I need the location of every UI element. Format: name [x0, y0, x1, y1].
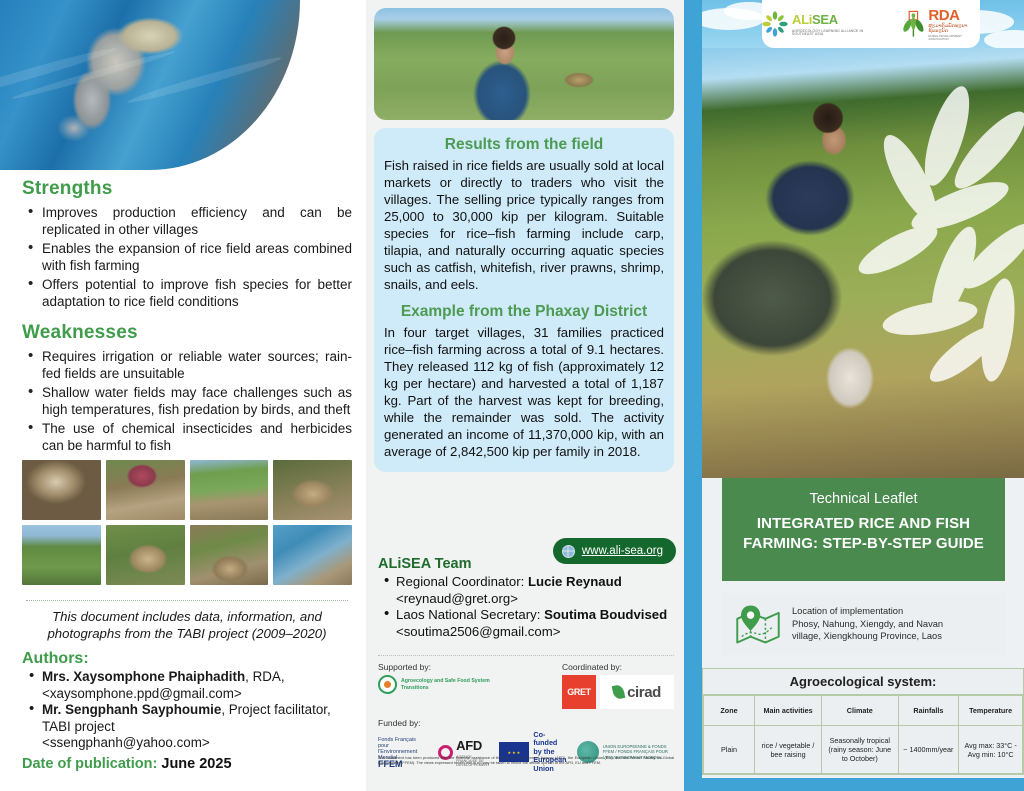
- eu-logo-text: Co-funded by the European Union: [533, 731, 566, 773]
- author-role: , RDA,: [245, 669, 284, 684]
- coordinated-by-block: Coordinated by: GRET cirad: [562, 662, 674, 709]
- dotted-divider: [26, 600, 348, 601]
- supported-by-block: Supported by: Agroecology and Safe Food …: [378, 662, 508, 709]
- weaknesses-heading: Weaknesses: [22, 322, 352, 344]
- location-line-1: Phosy, Nahung, Xiengdy, and Navan: [792, 618, 943, 631]
- afsst-logo: Agroecology and Safe Food System Transit…: [378, 675, 508, 694]
- cell-zone: Plain: [704, 726, 755, 774]
- team-list: Regional Coordinator: Lucie Reynaud<reyn…: [378, 574, 674, 640]
- publication-date: June 2025: [161, 756, 231, 772]
- agroecological-system-table: Agroecological system: Zone Main activit…: [702, 668, 1024, 775]
- grid-photo-farmer-in-channel: [106, 460, 185, 520]
- grid-photo-rice-field-channel: [190, 460, 269, 520]
- example-heading: Example from the Phaxay District: [384, 303, 664, 321]
- list-item: Laos National Secretary: Soutima Boudvis…: [378, 607, 674, 640]
- map-pin-icon: [734, 604, 782, 644]
- supported-by-label: Supported by:: [378, 662, 508, 672]
- col-header-zone: Zone: [704, 696, 755, 726]
- col-header-activities: Main activities: [755, 696, 822, 726]
- authors-heading: Authors:: [22, 650, 352, 668]
- cell-temperature: Avg max: 33°C - Avg min: 10°C: [959, 726, 1023, 774]
- location-text: Location of implementation Phosy, Nahung…: [792, 605, 943, 643]
- gret-logo: GRET: [562, 675, 596, 709]
- results-body: Fish raised in rice fields are usually s…: [384, 157, 664, 293]
- publication-date-row: Date of publication: June 2025: [22, 756, 352, 772]
- author-email: <xaysomphone.ppd@gmail.com>: [42, 686, 242, 701]
- supporters-section: Supported by: Agroecology and Safe Food …: [378, 662, 674, 709]
- afsst-logo-text: Agroecology and Safe Food System Transit…: [401, 678, 508, 690]
- cirad-logo-text: cirad: [627, 684, 661, 701]
- location-label: Location of implementation: [792, 605, 943, 618]
- title-block: Technical Leaflet INTEGRATED RICE AND FI…: [722, 478, 1005, 581]
- agro-table-title: Agroecological system:: [703, 669, 1023, 695]
- list-item: Regional Coordinator: Lucie Reynaud<reyn…: [378, 574, 674, 607]
- left-blue-band: [684, 0, 702, 791]
- field-photo-grid: [22, 460, 352, 585]
- alisea-word-ali: ALi: [792, 12, 812, 27]
- rda-lao-text: ສະມາຄົມພັດທະນາຊົນນະບົດ: [928, 24, 980, 34]
- funding-disclaimer: This document has been produced with the…: [378, 755, 674, 766]
- list-item: Requires irrigation or reliable water so…: [22, 348, 352, 382]
- alisea-tagline: AGROECOLOGY LEARNING ALLIANCE IN SOUTHEA…: [792, 30, 884, 37]
- leaflet-kicker: Technical Leaflet: [738, 491, 989, 507]
- rda-logo: RDA ສະມາຄົມພັດທະນາຊົນນະບົດ RURAL DEVELOP…: [902, 8, 980, 41]
- team-name: Soutima Boudvised: [544, 607, 667, 622]
- middle-column: Results from the field Fish raised in ri…: [366, 0, 684, 791]
- authors-list: Mrs. Xaysomphone Phaiphadith, RDA,<xayso…: [22, 669, 352, 752]
- team-email: <reynaud@gret.org>: [396, 591, 518, 606]
- grid-photo-farmer-in-field: [22, 525, 101, 585]
- example-body: In four target villages, 31 families pra…: [384, 324, 664, 460]
- cell-climate: Seasonally tropical (rainy season: June …: [822, 726, 899, 774]
- list-item: Improves production efficiency and can b…: [22, 204, 352, 238]
- farmers-harvesting-fish-photo: [702, 48, 1024, 478]
- rda-wordmark: RDA ສະມາຄົມພັດທະນາຊົນນະບົດ RURAL DEVELOP…: [928, 8, 980, 41]
- team-name: Lucie Reynaud: [528, 574, 622, 589]
- alisea-burst-icon: [762, 11, 788, 37]
- alisea-team-section: ALiSEA Team Regional Coordinator: Lucie …: [378, 556, 674, 640]
- team-role: Laos National Secretary:: [396, 607, 544, 622]
- logo-header-card: ALiSEA AGROECOLOGY LEARNING ALLIANCE IN …: [762, 0, 980, 48]
- rda-plant-icon: [902, 10, 926, 38]
- coordinated-by-label: Coordinated by:: [562, 662, 674, 672]
- eu-logo: Co-funded by the European Union: [499, 731, 566, 773]
- location-block: Location of implementation Phosy, Nahung…: [722, 593, 1005, 655]
- alisea-word-sea: SEA: [812, 12, 838, 27]
- alisea-wordmark: ALiSEA AGROECOLOGY LEARNING ALLIANCE IN …: [792, 12, 884, 37]
- list-item: Mr. Sengphanh Sayphoumie, Project facili…: [22, 702, 352, 752]
- col-header-rainfalls: Rainfalls: [898, 696, 959, 726]
- team-heading: ALiSEA Team: [378, 556, 674, 572]
- results-heading: Results from the field: [384, 136, 664, 154]
- team-role: Regional Coordinator:: [396, 574, 528, 589]
- page-title: INTEGRATED RICE AND FISH FARMING: STEP-B…: [738, 514, 989, 554]
- strengths-list: Improves production efficiency and can b…: [22, 204, 352, 310]
- authors-section: Authors: Mrs. Xaysomphone Phaiphadith, R…: [22, 648, 352, 772]
- leaflet-page: Strengths Improves production efficiency…: [0, 0, 1024, 791]
- left-column: Strengths Improves production efficiency…: [0, 0, 366, 791]
- fish-on-blue-tarp-photo: [0, 0, 300, 170]
- leaf-icon: [612, 684, 626, 700]
- strengths-heading: Strengths: [22, 178, 352, 200]
- cell-rainfalls: ~ 1400mm/year: [898, 726, 959, 774]
- team-email: <soutima2506@gmail.com>: [396, 624, 560, 639]
- cell-activities: rice / vegetable / bee raising: [755, 726, 822, 774]
- rda-english-text: RURAL DEVELOPMENT ASSOCIATION: [928, 35, 980, 41]
- afsst-ring-icon: [378, 675, 397, 694]
- list-item: The use of chemical insecticides and her…: [22, 420, 352, 454]
- grid-photo-blue-net: [273, 525, 352, 585]
- table-row: Plain rice / vegetable / bee raising Sea…: [704, 726, 1023, 774]
- location-line-2: village, Xiengkhoung Province, Laos: [792, 630, 943, 643]
- right-column: ALiSEA AGROECOLOGY LEARNING ALLIANCE IN …: [684, 0, 1024, 791]
- author-email: <ssengphanh@yahoo.com>: [42, 735, 210, 750]
- man-holding-fish-photo: [374, 8, 674, 120]
- weaknesses-list: Requires irrigation or reliable water so…: [22, 348, 352, 454]
- alisea-logo: ALiSEA AGROECOLOGY LEARNING ALLIANCE IN …: [762, 11, 884, 37]
- grid-photo-basket-in-water: [106, 525, 185, 585]
- list-item: Enables the expansion of rice field area…: [22, 240, 352, 274]
- grid-photo-bucket-with-fish: [22, 460, 101, 520]
- list-item: Mrs. Xaysomphone Phaiphadith, RDA,<xayso…: [22, 669, 352, 702]
- col-header-climate: Climate: [822, 696, 899, 726]
- list-item: Shallow water fields may face challenges…: [22, 384, 352, 418]
- col-header-temperature: Temperature: [959, 696, 1023, 726]
- publication-label: Date of publication:: [22, 756, 157, 772]
- funded-by-label: Funded by:: [378, 718, 674, 728]
- rda-word: RDA: [928, 7, 959, 24]
- grid-photo-muddy-pond: [273, 460, 352, 520]
- tabi-credit-note: This document includes data, information…: [22, 608, 352, 642]
- bottom-blue-band: [684, 778, 1024, 791]
- cirad-logo: cirad: [600, 675, 674, 709]
- grid-photo-harvesting-fish: [190, 525, 269, 585]
- afd-logo-text: AFD: [456, 738, 482, 753]
- swot-section: Strengths Improves production efficiency…: [22, 178, 352, 456]
- results-panel: Results from the field Fish raised in ri…: [374, 128, 674, 472]
- author-name: Mr. Sengphanh Sayphoumie: [42, 702, 221, 717]
- divider-top: [378, 655, 674, 656]
- list-item: Offers potential to improve fish species…: [22, 276, 352, 310]
- author-name: Mrs. Xaysomphone Phaiphadith: [42, 669, 245, 684]
- table-header-row: Zone Main activities Climate Rainfalls T…: [704, 696, 1023, 726]
